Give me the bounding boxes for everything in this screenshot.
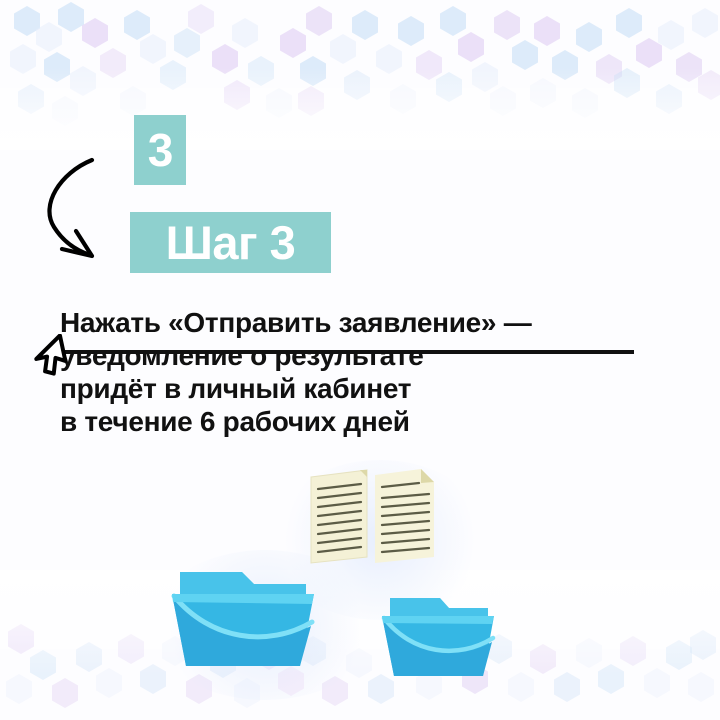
headline-line-4: в течение 6 рабочих дней (60, 405, 660, 438)
mouse-cursor-icon (30, 334, 70, 382)
headline-line-3: придёт в личный кабинет (60, 372, 660, 405)
open-book-icon (305, 465, 440, 570)
headline-underline (62, 350, 634, 354)
step-label-text: Шаг 3 (166, 219, 296, 266)
hex-pattern-top (0, 0, 720, 130)
folder-icon (168, 562, 318, 677)
headline-line-2: уведомление о результате (60, 339, 660, 372)
step-number-text: 3 (148, 127, 173, 173)
illustration-group (0, 440, 720, 720)
folder-icon (378, 590, 498, 685)
headline-block: Нажать «Отправить заявление» — уведомлен… (60, 306, 660, 438)
step-number-badge: 3 (134, 115, 186, 185)
step-label-badge: Шаг 3 (130, 212, 331, 273)
slide-canvas: 3 Шаг 3 Нажать «Отправить заявление» — у… (0, 0, 720, 720)
headline-line-1: Нажать «Отправить заявление» — (60, 306, 660, 339)
top-fade-overlay (0, 0, 720, 150)
